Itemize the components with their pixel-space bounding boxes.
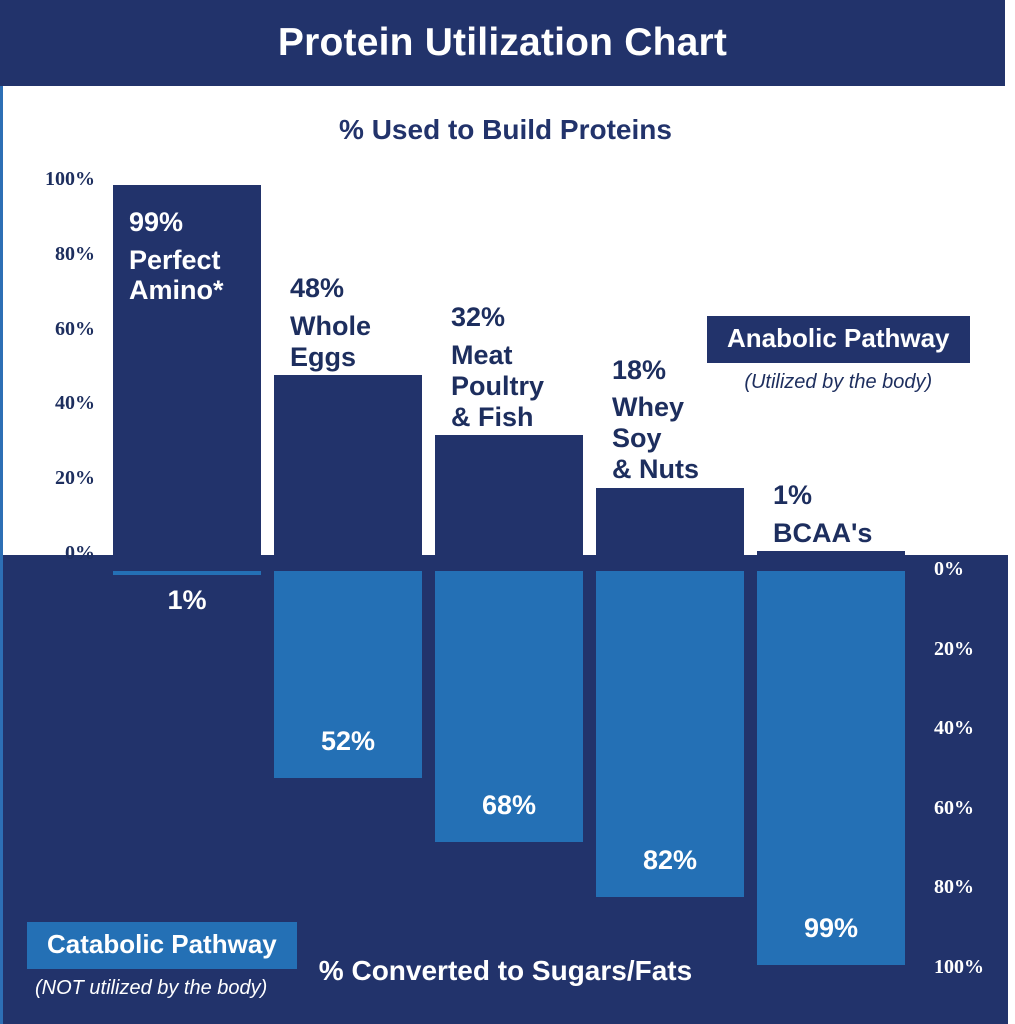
bar-catabolic-label: 99% <box>757 913 905 944</box>
bar-anabolic-name-line: Amino* <box>129 275 261 306</box>
bar-catabolic-label: 1% <box>113 585 261 616</box>
bar-anabolic-name-line: Soy <box>612 423 744 454</box>
bar-anabolic <box>274 375 422 555</box>
bar-anabolic <box>757 551 905 555</box>
bar-catabolic-label: 52% <box>274 726 422 757</box>
bar-group: 99%PerfectAmino*1%48%WholeEggs52%32%Meat… <box>3 86 1008 1024</box>
bar-column: 48%WholeEggs52% <box>274 86 422 1024</box>
bar-anabolic-percent: 32% <box>451 302 583 333</box>
bar-column: 18%WheySoy& Nuts82% <box>596 86 744 1024</box>
bar-anabolic-name-line: BCAA's <box>773 518 905 549</box>
bar-anabolic-name-line: Whole <box>290 311 422 342</box>
bar-anabolic <box>435 435 583 555</box>
title-band: Protein Utilization Chart <box>0 0 1005 86</box>
bar-anabolic <box>596 488 744 555</box>
bar-catabolic <box>757 571 905 965</box>
bar-anabolic-name-line: Whey <box>612 392 744 423</box>
bar-anabolic-name-line: & Fish <box>451 402 583 433</box>
legend-anabolic-label: Anabolic Pathway <box>707 316 970 363</box>
bar-anabolic-percent: 1% <box>773 480 905 511</box>
legend-catabolic: Catabolic Pathway (NOT utilized by the b… <box>27 922 297 1000</box>
bar-column: 32%MeatPoultry& Fish68% <box>435 86 583 1024</box>
legend-catabolic-sublabel: (NOT utilized by the body) <box>27 977 297 1000</box>
bar-anabolic-name-line: Meat <box>451 340 583 371</box>
page-title: Protein Utilization Chart <box>278 21 727 65</box>
bar-anabolic-percent: 48% <box>290 273 422 304</box>
bar-anabolic-label: 1%BCAA's <box>757 480 905 549</box>
bar-catabolic-label: 68% <box>435 790 583 821</box>
bar-catabolic <box>113 571 261 575</box>
bar-anabolic-name-line: Poultry <box>451 371 583 402</box>
bar-anabolic-label: 48%WholeEggs <box>274 273 422 372</box>
bar-anabolic-percent: 99% <box>129 207 261 238</box>
legend-anabolic-sublabel: (Utilized by the body) <box>707 371 970 394</box>
chart-frame: % Used to Build Proteins % Converted to … <box>0 86 1005 1024</box>
legend-catabolic-label: Catabolic Pathway <box>27 922 297 969</box>
bar-anabolic-name-line: Eggs <box>290 342 422 373</box>
bar-anabolic-label: 99%PerfectAmino* <box>113 207 261 306</box>
bar-anabolic-name-line: Perfect <box>129 245 261 276</box>
bar-catabolic-label: 82% <box>596 845 744 876</box>
bar-column: 1%BCAA's99% <box>757 86 905 1024</box>
bar-anabolic-name-line: & Nuts <box>612 454 744 485</box>
protein-utilization-infographic: Protein Utilization Chart % Used to Buil… <box>0 0 1015 1024</box>
bar-column: 99%PerfectAmino*1% <box>113 86 261 1024</box>
legend-anabolic: Anabolic Pathway (Utilized by the body) <box>707 316 970 394</box>
bar-anabolic-label: 32%MeatPoultry& Fish <box>435 302 583 432</box>
